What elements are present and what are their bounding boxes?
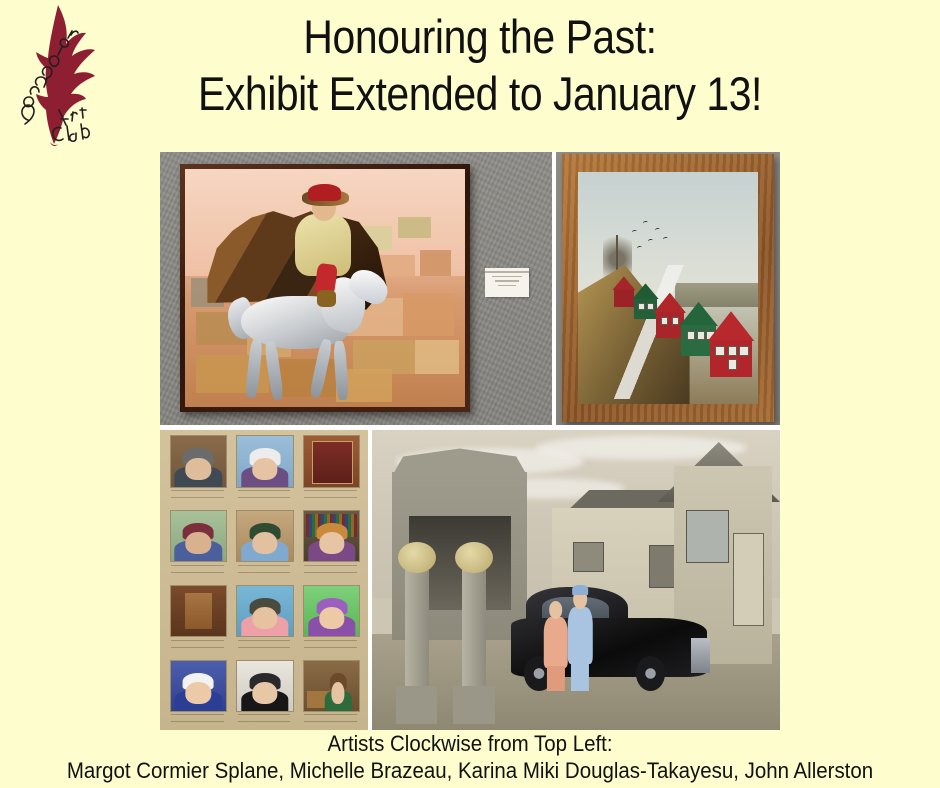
abstract-block: [415, 340, 460, 373]
collage-row-top: [160, 152, 780, 425]
shed-window: [728, 359, 737, 369]
abstract-block: [398, 217, 432, 238]
artwork-panel-gas-station: [372, 430, 780, 730]
figure-skirt: [547, 666, 565, 691]
shed-window: [728, 346, 737, 356]
shed-wall: [710, 340, 751, 378]
gallery-wall-label: [485, 268, 529, 297]
artwork-panel-fishing-sheds: [556, 152, 780, 425]
man-figure: [568, 589, 592, 691]
painting-canvas-equestrian: [185, 169, 465, 407]
title-line-2: Exhibit Extended to January 13!: [158, 65, 802, 122]
portrait-image: [236, 510, 293, 562]
figure-head: [549, 601, 563, 619]
portrait-face: [252, 607, 277, 629]
portrait-caption: [238, 711, 291, 727]
horse-leg: [333, 341, 349, 400]
portrait-caption: [304, 487, 357, 503]
poster-canvas: Honouring the Past: Exhibit Extended to …: [0, 0, 940, 788]
portrait-image: [170, 510, 227, 562]
portrait-cell: [233, 658, 296, 730]
title-line-1: Honouring the Past:: [158, 8, 802, 65]
artists-caption: Artists Clockwise from Top Left: Margot …: [0, 730, 940, 785]
portrait-cell: [299, 434, 362, 506]
portrait-face: [319, 532, 344, 554]
portrait-caption: [238, 637, 291, 653]
portrait-image: [236, 660, 293, 712]
house-window: [573, 542, 605, 572]
figure-hat: [572, 585, 588, 595]
portrait-caption: [171, 637, 224, 653]
portrait-face: [252, 532, 277, 554]
painting-rider-figure: [291, 183, 358, 302]
portrait-face: [252, 458, 277, 480]
collage-row-bottom: [160, 430, 780, 730]
fuel-pump: [405, 568, 429, 688]
portrait-caption: [304, 562, 357, 578]
portrait-grid: [166, 434, 362, 730]
portrait-cell: [299, 658, 362, 730]
figure-trousers: [571, 662, 589, 691]
portrait-cell: [233, 509, 296, 581]
painting-canvas-sheds: [578, 172, 758, 404]
poster-title: Honouring the Past: Exhibit Extended to …: [110, 8, 850, 122]
portrait-cell: [299, 509, 362, 581]
portrait-face: [332, 682, 345, 704]
shed-roof: [708, 311, 755, 341]
horse-leg: [264, 341, 284, 401]
portrait-image: [170, 435, 227, 487]
shed-window: [739, 346, 748, 356]
portrait-image: [303, 510, 360, 562]
artwork-panel-equestrian: [160, 152, 552, 425]
portrait-caption: [171, 711, 224, 727]
caption-line-2: Margot Cormier Splane, Michelle Brazeau,…: [33, 757, 907, 785]
portrait-cell: [166, 658, 229, 730]
figure-coat: [543, 617, 567, 667]
horse-leg: [245, 338, 263, 398]
porcupine-art-club-logo: [6, 2, 111, 148]
portrait-face: [319, 607, 344, 629]
wooden-chair-icon: [185, 593, 211, 629]
portrait-image: [170, 585, 227, 637]
rider-red-cap: [308, 184, 342, 201]
shed-window: [661, 317, 668, 325]
portrait-cell: [233, 584, 296, 656]
shed-window: [697, 331, 705, 340]
rider-boot: [317, 290, 336, 307]
portrait-image: [303, 660, 360, 712]
abstract-block: [403, 293, 453, 336]
shed-window: [638, 303, 644, 309]
portrait-caption: [171, 487, 224, 503]
portrait-image: [170, 660, 227, 712]
portrait-cell: [166, 584, 229, 656]
portrait-image: [303, 585, 360, 637]
caption-line-1: Artists Clockwise from Top Left:: [33, 730, 907, 757]
vintage-car: [511, 589, 707, 691]
shed-window: [687, 331, 695, 340]
portrait-caption: [304, 637, 357, 653]
portrait-image: [236, 585, 293, 637]
portrait-cell: [166, 509, 229, 581]
shed-window: [715, 346, 724, 356]
portrait-image: [303, 435, 360, 487]
artwork-panel-portrait-grid: [160, 430, 368, 730]
portrait-face: [186, 532, 211, 554]
abstract-block: [420, 250, 451, 276]
portrait-cell: [299, 584, 362, 656]
shed: [708, 311, 755, 376]
picture-frame-dark: [180, 164, 470, 412]
fuel-pump: [462, 568, 486, 688]
artwork-collage: [160, 152, 780, 730]
portrait-face: [186, 682, 211, 704]
book-cover-icon: [312, 441, 354, 483]
woman-figure: [543, 601, 567, 691]
portrait-caption: [238, 562, 291, 578]
portrait-caption: [171, 562, 224, 578]
tower-window: [686, 510, 729, 563]
portrait-image: [236, 435, 293, 487]
portrait-cell: [233, 434, 296, 506]
portrait-caption: [238, 487, 291, 503]
car-wheel: [636, 656, 665, 691]
portrait-caption: [304, 711, 357, 727]
car-grille: [691, 638, 711, 673]
portrait-cell: [166, 434, 229, 506]
portrait-face: [252, 682, 277, 704]
portrait-face: [186, 458, 211, 480]
figure-suit: [568, 607, 592, 664]
station-door: [733, 533, 764, 626]
picture-frame-wood: [562, 154, 774, 422]
